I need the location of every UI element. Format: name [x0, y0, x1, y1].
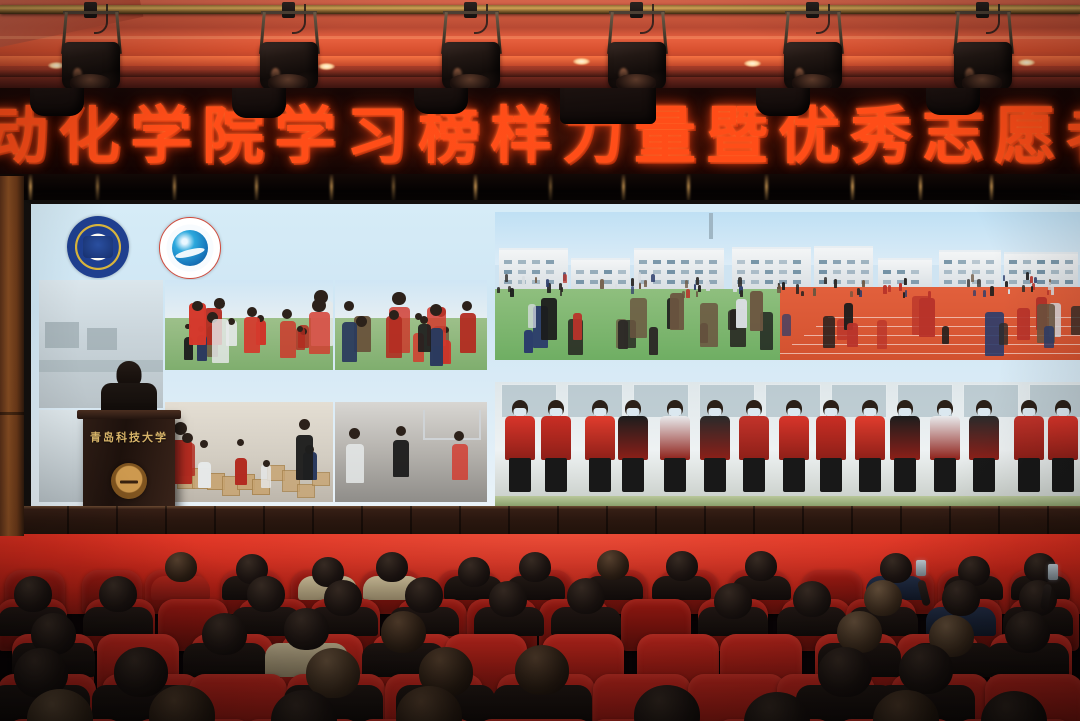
field-window: [667, 270, 675, 274]
field-window: [819, 270, 827, 274]
field-person: [638, 272, 641, 282]
audience-head: [899, 644, 953, 694]
volunteer-vest: [739, 416, 769, 460]
field-person: [630, 298, 647, 338]
audience-head: [519, 552, 551, 582]
field-window: [1009, 260, 1017, 264]
field-window: [709, 270, 717, 274]
volunteer-vest: [779, 416, 809, 460]
volunteer-figure: [776, 400, 812, 496]
spotlight-head-occluder-1: [30, 88, 84, 116]
volunteer-figure: [697, 400, 733, 496]
field-person: [813, 288, 816, 296]
camera-rig-occluder: [560, 88, 656, 124]
volunteer-legs: [664, 458, 686, 492]
spotlight-yoke-top: [63, 11, 119, 14]
volunteer-face-mask: [1057, 408, 1070, 416]
spotlight-cable: [640, 4, 654, 34]
volunteer-small-head: [462, 301, 472, 311]
field-mast: [709, 213, 713, 239]
audience-head: [864, 580, 902, 616]
spotlight-cable: [292, 4, 306, 34]
audience-head: [202, 613, 247, 655]
field-window: [576, 280, 584, 284]
left-wall-panel: [0, 176, 24, 536]
volunteer-vest: [660, 416, 690, 460]
field-person: [559, 283, 562, 290]
volunteer-face-mask: [864, 408, 877, 416]
qust-seal-logo: [67, 216, 129, 278]
audience-head: [1005, 611, 1050, 653]
audience-head: [247, 576, 285, 612]
volunteer-small: [280, 321, 296, 358]
field-window: [765, 270, 773, 274]
field-person: [899, 283, 902, 291]
field-person: [573, 313, 582, 340]
volunteer-face-mask: [748, 408, 761, 416]
volunteer-small-head: [312, 299, 326, 313]
spotlight-cable: [986, 4, 1000, 34]
field-window: [737, 270, 745, 274]
field-person: [824, 277, 827, 284]
field-window: [751, 260, 759, 264]
field-person: [644, 280, 647, 287]
volunteer-vest: [541, 416, 571, 460]
field-window: [897, 270, 905, 274]
volunteer-small: [418, 324, 431, 352]
volunteer-figure: [615, 400, 651, 496]
spotlight-yoke-top: [609, 11, 665, 14]
field-window: [958, 280, 966, 284]
field-window: [709, 280, 717, 284]
audience-head: [165, 552, 197, 582]
field-person: [615, 284, 617, 289]
field-person: [698, 285, 701, 292]
field-lane-2: [792, 344, 1080, 346]
light-streak-10: [687, 174, 690, 202]
field-window: [779, 270, 787, 274]
photo-outdoor-cleanup: [335, 402, 487, 502]
field-person: [796, 284, 799, 294]
volunteer-legs: [509, 458, 531, 492]
volunteer-face-mask: [1023, 408, 1036, 416]
left-wall-seam: [0, 412, 24, 415]
light-streak-4: [255, 174, 258, 202]
field-window: [847, 280, 855, 284]
field-window: [1009, 270, 1017, 274]
field-window: [576, 270, 584, 274]
field-window: [695, 270, 703, 274]
volunteer-legs: [1018, 458, 1040, 492]
field-window: [847, 260, 855, 264]
field-person: [750, 291, 763, 331]
field-window: [833, 270, 841, 274]
photo-volunteer-group: [495, 382, 1080, 506]
volunteer-face-mask: [627, 408, 640, 416]
audience-head: [714, 583, 752, 619]
volunteer-legs: [783, 458, 805, 492]
field-window: [833, 260, 841, 264]
volunteer-small: [460, 313, 476, 353]
photo-volunteers-a: [165, 280, 333, 370]
field-person: [736, 299, 747, 328]
light-streak-5: [330, 174, 333, 202]
field-window: [944, 260, 952, 264]
photo-indoor-service: [165, 402, 333, 502]
volunteer-legs: [1052, 458, 1074, 492]
photo-campus-field: [495, 212, 1080, 360]
audience-head: [324, 580, 362, 616]
field-window: [986, 270, 994, 274]
volunteer-outdoor: [346, 444, 364, 483]
field-person: [541, 298, 557, 340]
audience-head: [458, 557, 490, 587]
field-window: [618, 270, 626, 274]
field-person: [546, 279, 549, 287]
volunteer-face-mask: [594, 408, 607, 416]
volunteer-figure: [657, 400, 693, 496]
volunteer-outdoor: [452, 444, 468, 480]
volunteer-small-head: [392, 292, 406, 306]
field-person: [999, 323, 1008, 345]
volunteer-indoor: [296, 435, 313, 480]
field-window: [986, 280, 994, 284]
volunteer-vest: [930, 416, 960, 460]
field-window: [1023, 260, 1031, 264]
field-window: [1051, 270, 1059, 274]
field-person: [1003, 275, 1005, 281]
volunteer-face-mask: [709, 408, 722, 416]
field-window: [604, 270, 612, 274]
stage-header-gap: [0, 174, 1080, 202]
volunteer-legs: [894, 458, 916, 492]
seated-audience: [0, 536, 1080, 721]
spotlight-head-occluder-6: [926, 88, 980, 115]
field-person: [497, 287, 500, 293]
volunteer-legs: [743, 458, 765, 492]
auditorium-scene: 动化学院学习榜样力量暨优秀志愿者表: [0, 0, 1080, 721]
light-streak-11: [765, 174, 768, 202]
field-window: [972, 270, 980, 274]
field-person: [862, 280, 865, 287]
field-window: [765, 280, 773, 284]
field-person: [685, 280, 688, 288]
volunteer-small: [212, 319, 229, 363]
volunteer-figure: [813, 400, 849, 496]
field-window: [504, 260, 512, 264]
field-person: [990, 286, 994, 296]
volunteer-outdoor-head: [396, 426, 406, 436]
volunteer-small: [244, 317, 260, 353]
field-window: [1051, 260, 1059, 264]
volunteer-small: [386, 316, 402, 358]
volunteer-legs: [704, 458, 726, 492]
volunteer-vest: [1048, 416, 1078, 460]
podium-photo-block-1: [45, 322, 79, 348]
podium-photo-block-2: [87, 328, 117, 350]
outdoor-railing: [423, 410, 481, 440]
field-window: [1037, 270, 1045, 274]
volunteer-legs: [859, 458, 881, 492]
light-streak-1: [29, 174, 32, 202]
light-streak-2: [96, 174, 99, 202]
volunteer-small-head: [344, 301, 354, 311]
field-person: [942, 326, 949, 344]
field-window: [847, 270, 855, 274]
audience-head: [793, 581, 831, 617]
field-window: [1065, 280, 1073, 284]
field-window: [639, 260, 647, 264]
volunteer-indoor: [261, 464, 271, 488]
volunteer-vest: [816, 416, 846, 460]
field-window: [681, 260, 689, 264]
volunteer-small-head: [282, 309, 292, 319]
field-person: [888, 285, 891, 292]
volunteer-small: [309, 312, 330, 354]
field-person: [528, 304, 536, 328]
field-person: [1071, 306, 1080, 335]
audience-head: [597, 550, 629, 580]
volunteer-figure: [887, 400, 923, 496]
volunteer-face-mask: [669, 408, 682, 416]
volunteer-figure: [927, 400, 963, 496]
field-person: [801, 291, 804, 297]
field-person: [971, 274, 974, 282]
volunteer-legs: [622, 458, 644, 492]
field-person: [1051, 286, 1054, 296]
spotlight-cable: [474, 4, 488, 34]
field-window: [1065, 260, 1073, 264]
volunteer-small-head: [214, 298, 225, 309]
field-person: [904, 278, 906, 285]
audience-head: [114, 647, 168, 697]
volunteer-face-mask: [788, 408, 801, 416]
volunteer-indoor-head: [182, 433, 193, 444]
light-streak-13: [919, 174, 922, 202]
audience-head: [818, 647, 872, 697]
field-person: [1034, 277, 1037, 283]
ceiling-band-3: [0, 56, 1080, 66]
volunteer-indoor: [179, 443, 195, 476]
field-window: [751, 280, 759, 284]
volunteer-small-head: [192, 301, 203, 312]
field-window: [911, 280, 919, 284]
audience-head: [14, 576, 52, 612]
field-person: [857, 288, 860, 295]
volunteer-vest: [585, 416, 615, 460]
volunteer-vest: [890, 416, 920, 460]
ceiling-band-4: [0, 70, 1080, 77]
field-window: [1037, 280, 1045, 284]
audience-head: [567, 578, 605, 614]
stage-apron-lip: [0, 506, 1080, 509]
field-window: [604, 280, 612, 284]
spotlight-cable: [94, 4, 108, 34]
field-person: [686, 289, 690, 298]
field-window: [546, 270, 554, 274]
group-foreground-grass: [495, 496, 1080, 506]
ceiling-downlight-4: [744, 60, 761, 67]
field-person: [600, 279, 604, 289]
photo-volunteers-b: [335, 280, 487, 370]
field-person: [740, 290, 743, 298]
field-window: [861, 270, 869, 274]
volunteer-vest: [855, 416, 885, 460]
light-streak-3: [173, 174, 176, 202]
volunteer-face-mask: [514, 408, 527, 416]
volunteer-figure: [852, 400, 888, 496]
cardboard-box-9: [297, 484, 315, 498]
field-window: [751, 270, 759, 274]
field-person: [524, 330, 533, 353]
field-window: [518, 260, 526, 264]
field-window: [1065, 270, 1073, 274]
volunteer-indoor-head: [263, 460, 270, 467]
field-window: [709, 260, 717, 264]
spotlight-yoke-top: [443, 11, 499, 14]
field-person: [682, 291, 685, 298]
field-person: [775, 280, 778, 287]
audience-head: [942, 580, 980, 616]
volunteer-legs: [934, 458, 956, 492]
field-person: [563, 274, 567, 283]
field-person: [651, 274, 655, 282]
field-person: [928, 291, 931, 298]
field-person: [631, 286, 634, 294]
audience-head: [376, 552, 408, 582]
field-window: [590, 270, 598, 274]
volunteer-figure: [582, 400, 618, 496]
field-window: [765, 260, 773, 264]
field-person: [649, 327, 658, 355]
field-window: [737, 260, 745, 264]
lectern-top: [77, 410, 181, 419]
volunteer-figure: [1011, 400, 1047, 496]
volunteer-face-mask: [899, 408, 912, 416]
lighting-truss-bar: [0, 5, 1080, 14]
field-window: [532, 270, 540, 274]
field-window: [681, 270, 689, 274]
audience-head: [880, 553, 912, 583]
field-person: [850, 291, 853, 297]
field-window: [944, 280, 952, 284]
ceiling-downlight-5: [1018, 59, 1035, 66]
light-streak-8: [549, 174, 552, 202]
light-streak-12: [851, 174, 854, 202]
field-person: [967, 279, 970, 287]
ceiling-band-2: [0, 36, 1080, 39]
field-window: [667, 260, 675, 264]
volunteer-vest: [700, 416, 730, 460]
field-person: [1017, 308, 1030, 340]
qust-round-emblem: [111, 463, 147, 499]
field-lane-1: [780, 353, 1080, 355]
volunteer-small-head: [297, 326, 303, 332]
field-person: [883, 285, 887, 294]
field-person: [977, 279, 981, 288]
field-person: [510, 288, 514, 297]
ceiling: [0, 0, 1080, 92]
volunteer-vest: [505, 416, 535, 460]
spotlight-head-occluder-2: [232, 88, 286, 118]
field-person: [834, 279, 837, 288]
volunteer-figure: [538, 400, 574, 496]
light-streak-9: [622, 174, 625, 202]
volunteer-figure: [966, 400, 1002, 496]
field-person: [670, 293, 684, 330]
field-window: [667, 280, 675, 284]
light-streak-14: [990, 174, 993, 202]
field-window: [653, 270, 661, 274]
field-person: [696, 277, 699, 285]
volunteer-small: [342, 322, 357, 362]
event-banner: 动化学院学习榜样力量暨优秀志愿者表: [0, 88, 1080, 176]
field-person: [1047, 290, 1049, 295]
field-window: [1051, 280, 1059, 284]
volunteer-face-mask: [939, 408, 952, 416]
volunteer-figure: [1045, 400, 1080, 496]
field-person: [505, 274, 508, 283]
volunteer-face-mask: [825, 408, 838, 416]
field-window: [958, 270, 966, 274]
field-person: [983, 290, 986, 298]
volunteer-face-mask: [550, 408, 563, 416]
volunteer-indoor: [198, 462, 211, 488]
field-person: [1031, 286, 1033, 292]
ceiling-downlight-2: [318, 63, 335, 70]
audience-head: [666, 551, 698, 581]
volunteer-small: [430, 328, 443, 366]
field-person: [847, 323, 858, 347]
field-window: [532, 260, 540, 264]
field-window: [590, 280, 598, 284]
field-person: [733, 284, 737, 292]
volunteer-indoor-head: [299, 419, 310, 430]
field-person: [535, 277, 537, 283]
field-person: [706, 281, 710, 291]
volunteer-small-head: [356, 316, 367, 327]
field-window: [546, 260, 554, 264]
volunteer-vest: [618, 416, 648, 460]
volunteer-indoor: [235, 458, 247, 485]
field-person: [700, 303, 718, 347]
field-window: [653, 260, 661, 264]
volunteer-legs: [545, 458, 567, 492]
spotlight-head-occluder-3: [414, 88, 468, 114]
field-person: [973, 290, 976, 296]
led-screen-frame: [22, 200, 1080, 510]
light-streak-7: [474, 174, 477, 202]
field-window: [861, 260, 869, 264]
field-window: [944, 270, 952, 274]
volunteer-legs: [589, 458, 611, 492]
ceiling-downlight-3: [573, 58, 590, 65]
field-person: [631, 278, 634, 286]
field-person: [877, 320, 887, 349]
field-window: [618, 280, 626, 284]
volunteer-outdoor: [393, 440, 409, 477]
spotlight-head-occluder-5: [756, 88, 810, 116]
field-person: [903, 292, 905, 298]
audience-head: [99, 576, 137, 612]
field-person: [1026, 272, 1029, 280]
attendee-phone: [916, 560, 926, 576]
light-streak-6: [392, 174, 395, 202]
spotlight-yoke-top: [261, 11, 317, 14]
field-person: [522, 276, 525, 286]
field-person: [618, 320, 628, 349]
field-window: [986, 260, 994, 264]
